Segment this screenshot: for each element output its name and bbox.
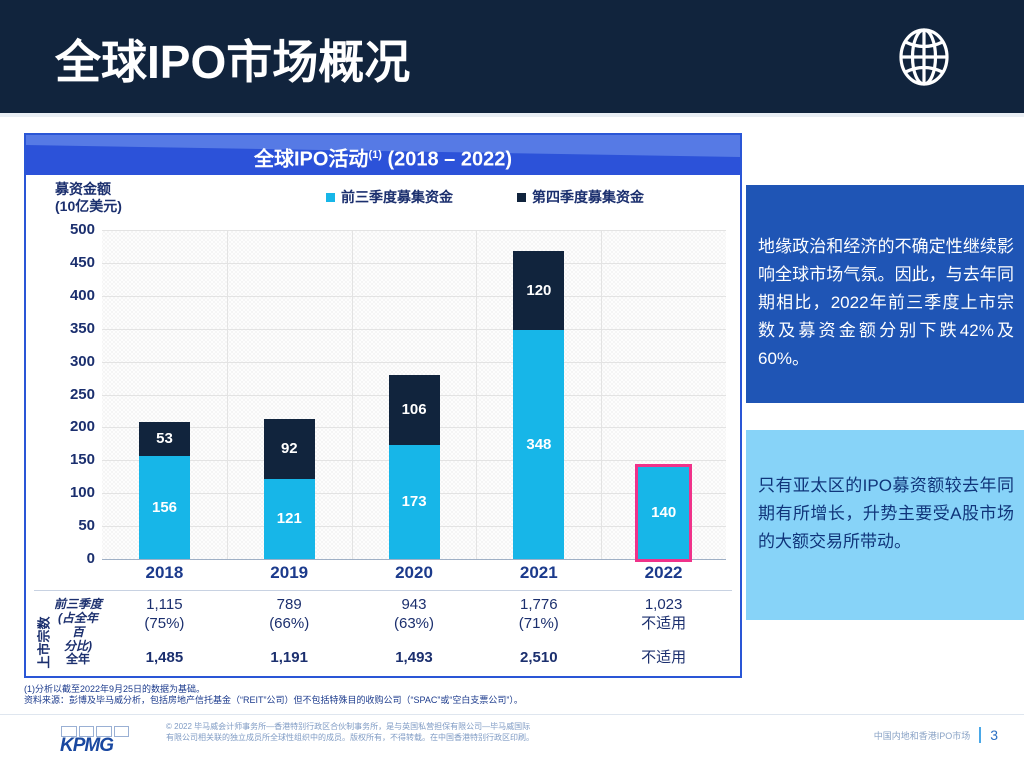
bar-value-label: 156 [139, 499, 190, 516]
callout-box-secondary: 只有亚太区的IPO募资额较去年同期有所增长，升势主要受A股市场的大额交易所带动。 [746, 430, 1024, 620]
table-cell-pct: (63%) [352, 614, 477, 633]
slide-header: 全球IPO市场概况 [0, 0, 1024, 113]
gridline-vertical [352, 230, 353, 559]
callout-primary-text: 地缘政治和经济的不确定性继续影响全球市场气氛。因此，与去年同期相比，2022年前… [758, 233, 1014, 373]
bar-segment-q1q3-2018[interactable]: 156 [139, 456, 190, 559]
table-cell-fullyear-2020: 1,493 [352, 648, 477, 667]
y-axis-tick-450: 450 [70, 256, 95, 270]
bar-segment-q4-2020[interactable]: 106 [389, 375, 440, 445]
y-axis-tick-500: 500 [70, 223, 95, 237]
document-title-label: 中国内地和香港IPO市场 [874, 729, 971, 742]
copyright-line-2: 有限公司相关联的独立成员所全球性组织中的成员。版权所有，不得转载。在中国香港特别… [166, 732, 616, 743]
gridline-horizontal [102, 329, 726, 330]
bar-value-label: 173 [389, 493, 440, 510]
footer-divider [0, 714, 1024, 715]
x-axis-tick-labels: 20182019202020212022 [102, 563, 726, 589]
table-rowhead-ytd-line: 分比) [54, 639, 102, 653]
table-top-divider [34, 590, 732, 591]
footnote-line-1: (1)分析以截至2022年9月25日的数据为基础。 [24, 684, 744, 695]
table-cell-fullyear-2018: 1,485 [102, 648, 227, 667]
callout-secondary-text: 只有亚太区的IPO募资额较去年同期有所增长，升势主要受A股市场的大额交易所带动。 [758, 472, 1014, 556]
table-cell-pct: (71%) [476, 614, 601, 633]
gridline-horizontal [102, 296, 726, 297]
y-axis-tick-250: 250 [70, 388, 95, 402]
kpmg-logo-text: KPMG [60, 735, 113, 757]
bar-value-label: 140 [638, 504, 689, 521]
callout-box-primary: 地缘政治和经济的不确定性继续影响全球市场气氛。因此，与去年同期相比，2022年前… [746, 185, 1024, 403]
table-cell-fullyear-2019: 1,191 [227, 648, 352, 667]
table-cell-pct: (66%) [227, 614, 352, 633]
table-rowhead-fullyear: 全年 [54, 652, 102, 666]
table-cell-pct: 不适用 [601, 614, 726, 633]
y-axis-tick-100: 100 [70, 486, 95, 500]
table-cell-pct: (75%) [102, 614, 227, 633]
x-axis-tick-2021: 2021 [476, 563, 601, 583]
bar-stack-2022[interactable]: 140 [638, 467, 689, 559]
gridline-vertical [227, 230, 228, 559]
footer-separator [979, 727, 981, 743]
header-divider [0, 113, 1024, 117]
plot-area: 5315692121106173120348140 [102, 230, 726, 560]
gridline-vertical [476, 230, 477, 559]
bar-segment-q1q3-2022[interactable]: 140 [638, 467, 689, 559]
copyright-notice: © 2022 毕马威会计师事务所—香港特别行政区合伙制事务所，是与英国私营担保有… [166, 721, 616, 743]
bar-segment-q4-2019[interactable]: 92 [264, 419, 315, 480]
y-axis-tick-150: 150 [70, 453, 95, 467]
table-rowhead-ytd: 前三季度(占全年百分比) [54, 597, 102, 653]
x-axis-tick-2022: 2022 [601, 563, 726, 583]
bar-segment-q1q3-2019[interactable]: 121 [264, 479, 315, 559]
chart-footnote: (1)分析以截至2022年9月25日的数据为基础。 资料来源：彭博及毕马威分析，… [24, 684, 744, 706]
gridline-horizontal [102, 263, 726, 264]
kpmg-logo: KPMG [60, 726, 132, 752]
bar-segment-q4-2018[interactable]: 53 [139, 422, 190, 457]
page-title: 全球IPO市场概况 [55, 26, 410, 92]
gridline-vertical [601, 230, 602, 559]
y-axis-tick-350: 350 [70, 322, 95, 336]
table-cell-count: 1,115 [102, 595, 227, 614]
table-rowhead-ytd-line: (占全年百 [54, 611, 102, 639]
bar-value-label: 348 [513, 436, 564, 453]
x-axis-tick-2020: 2020 [352, 563, 477, 583]
table-cell-ytd-2018: 1,115(75%) [102, 595, 227, 633]
slide-root: 全球IPO市场概况 全球IPO活动(1) (2018 – 2022) 募资金额 [0, 0, 1024, 768]
bar-value-label: 53 [139, 430, 190, 447]
bar-stack-2018[interactable]: 53156 [139, 422, 190, 560]
footnote-line-2: 资料来源：彭博及毕马威分析，包括房地产信托基金（“REIT”公司）但不包括特殊目… [24, 695, 744, 706]
y-axis-tick-300: 300 [70, 355, 95, 369]
table-row-group-label: 上市宗数 [30, 597, 56, 687]
footer-meta: 中国内地和香港IPO市场 3 [874, 727, 998, 743]
copyright-line-1: © 2022 毕马威会计师事务所—香港特别行政区合伙制事务所，是与英国私营担保有… [166, 721, 616, 732]
gridline-horizontal [102, 230, 726, 231]
bar-stack-2019[interactable]: 92121 [264, 419, 315, 559]
y-axis-tick-200: 200 [70, 420, 95, 434]
bar-value-label: 92 [264, 440, 315, 457]
x-axis-tick-2018: 2018 [102, 563, 227, 583]
table-cell-count: 943 [352, 595, 477, 614]
bar-segment-q1q3-2021[interactable]: 348 [513, 330, 564, 559]
table-row-group-label-text: 上市宗数 [34, 616, 53, 668]
table-cell-ytd-2019: 789(66%) [227, 595, 352, 633]
bar-segment-q1q3-2020[interactable]: 173 [389, 445, 440, 559]
bar-stack-2020[interactable]: 106173 [389, 375, 440, 559]
table-cell-count: 1,023 [601, 595, 726, 614]
table-rowhead-ytd-line: 前三季度 [54, 597, 102, 611]
bar-value-label: 120 [513, 282, 564, 299]
y-axis-tick-0: 0 [87, 552, 95, 566]
table-cell-count: 789 [227, 595, 352, 614]
globe-icon [893, 26, 955, 88]
table-cell-count: 1,776 [476, 595, 601, 614]
bar-value-label: 121 [264, 510, 315, 527]
table-cell-ytd-2022: 1,023不适用 [601, 595, 726, 633]
table-cell-ytd-2021: 1,776(71%) [476, 595, 601, 633]
bar-segment-q4-2021[interactable]: 120 [513, 251, 564, 330]
table-cell-fullyear-2021: 2,510 [476, 648, 601, 667]
table-cell-fullyear-2022: 不适用 [601, 648, 726, 667]
y-axis-tick-labels: 500450400350300250200150100500 [50, 223, 95, 559]
page-number: 3 [990, 727, 998, 743]
y-axis-tick-50: 50 [78, 519, 95, 533]
table-cell-ytd-2020: 943(63%) [352, 595, 477, 633]
y-axis-tick-400: 400 [70, 289, 95, 303]
x-axis-tick-2019: 2019 [227, 563, 352, 583]
gridline-horizontal [102, 362, 726, 363]
bar-stack-2021[interactable]: 120348 [513, 251, 564, 559]
bar-value-label: 106 [389, 401, 440, 418]
chart-panel: 全球IPO活动(1) (2018 – 2022) 募资金额 (10亿美元) 前三… [24, 133, 742, 678]
